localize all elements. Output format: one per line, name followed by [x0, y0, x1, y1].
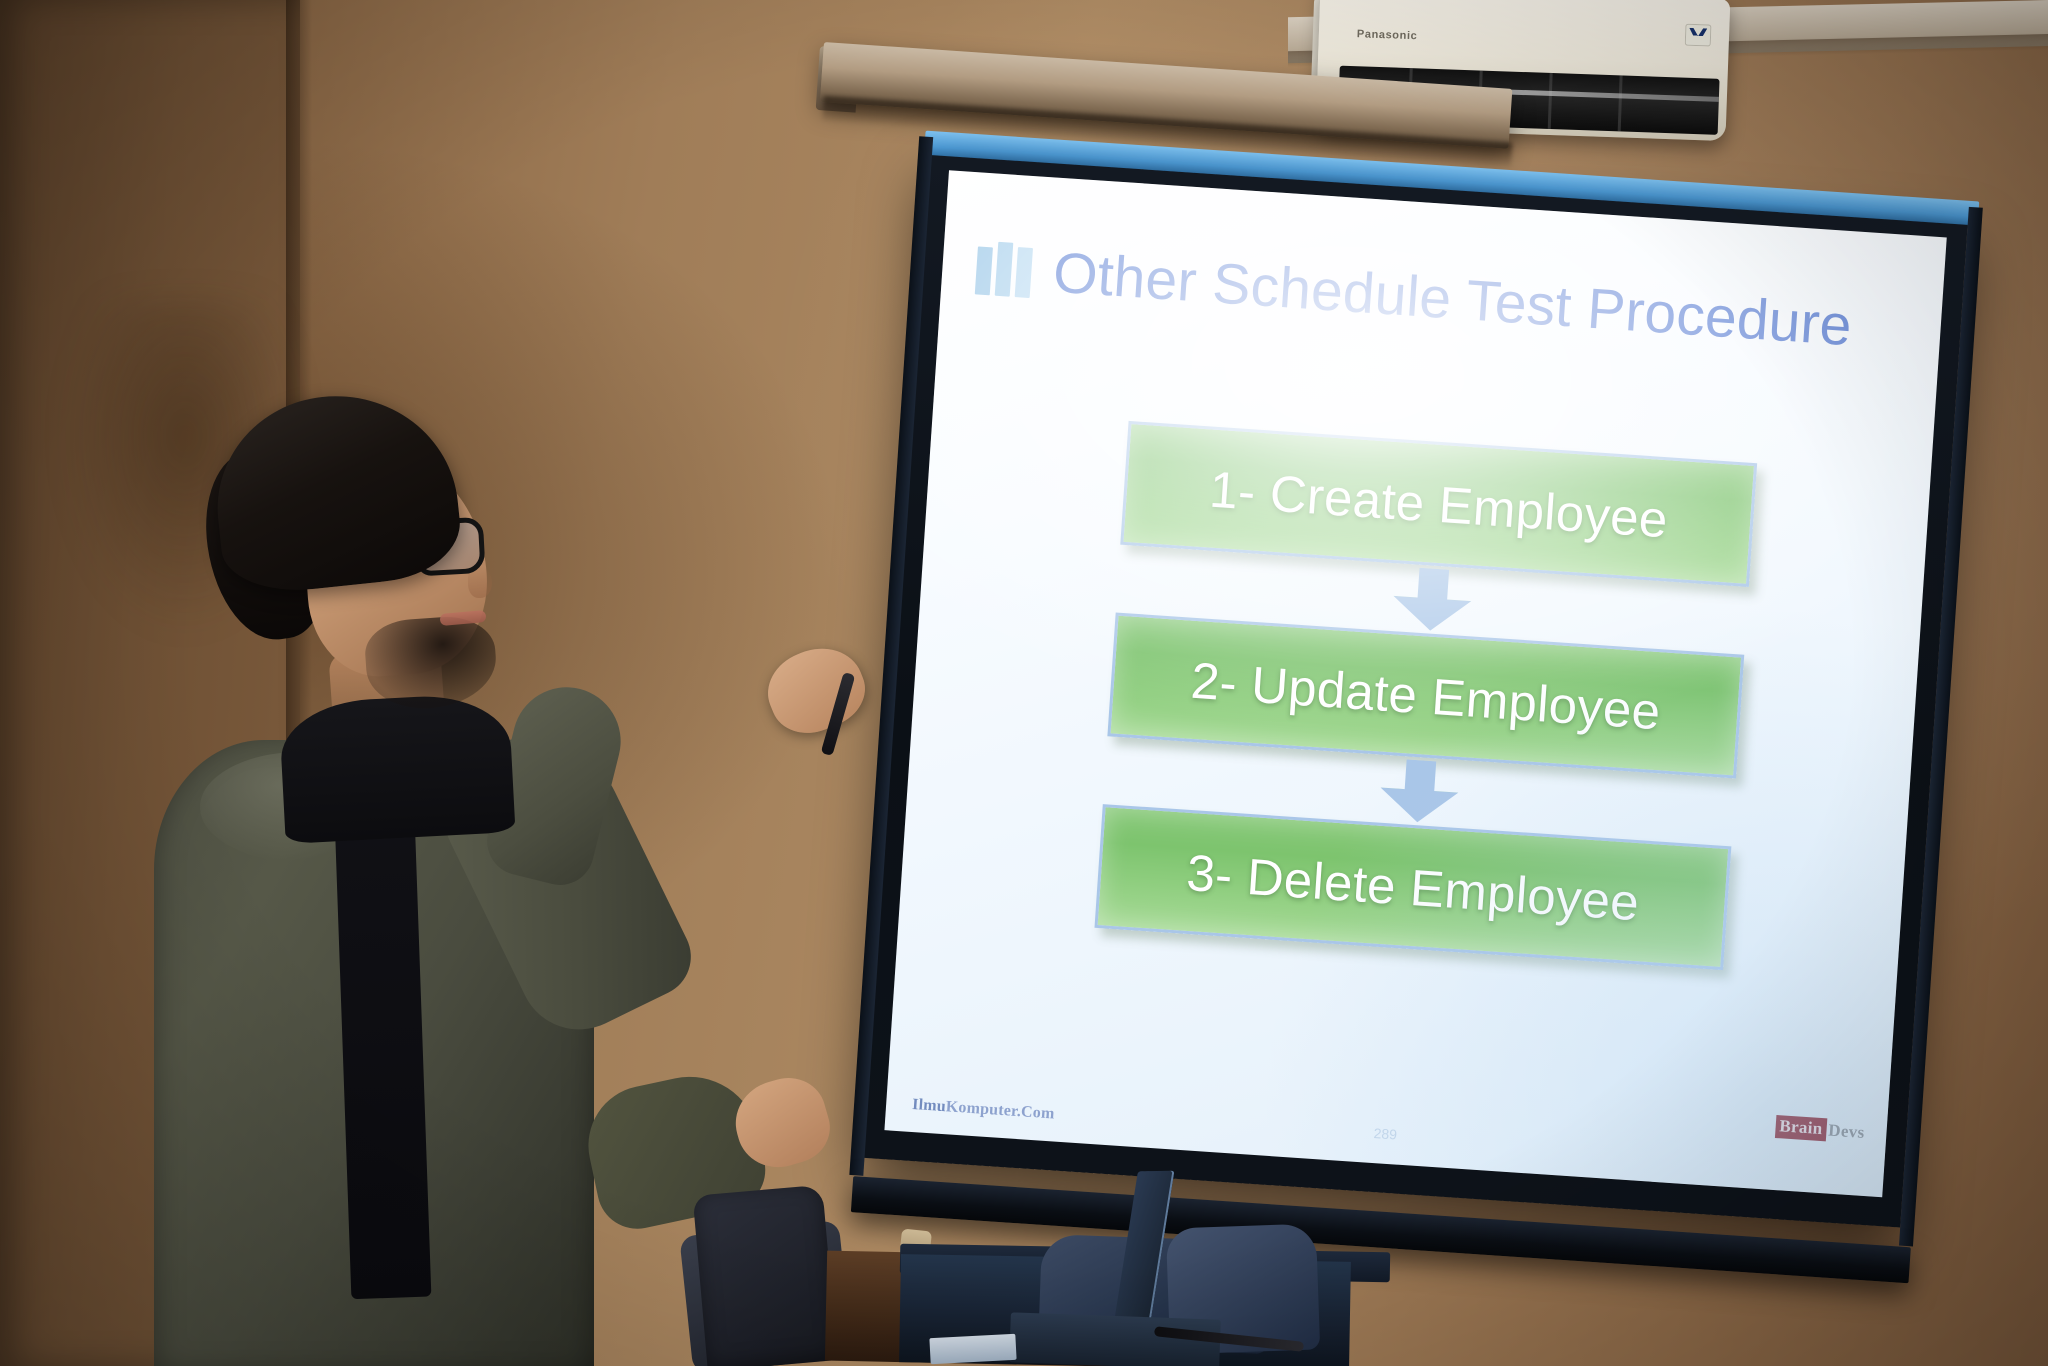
photo-scene: Panasonic Other Sched — [0, 0, 2048, 1366]
screen-frame: Other Schedule Test Procedure 1- Create … — [863, 155, 1968, 1228]
air-conditioner-badge-icon — [1685, 24, 1712, 47]
slide-logo: BrainDevs — [1775, 1115, 1866, 1144]
air-conditioner-brand-label: Panasonic — [1357, 28, 1418, 42]
flow-step-label: 2- Update Employee — [1189, 650, 1662, 740]
slide-watermark-prefix: Ilmu — [912, 1096, 947, 1115]
slide-page-number: 289 — [1373, 1125, 1397, 1143]
presenter — [120, 380, 760, 1366]
chair — [693, 1185, 838, 1366]
down-arrow-icon — [1378, 758, 1460, 825]
slide-logo-primary: Brain — [1775, 1115, 1827, 1141]
paper-sheet — [929, 1334, 1016, 1364]
flow-step-label: 1- Create Employee — [1208, 459, 1670, 549]
slide-title: Other Schedule Test Procedure — [1051, 240, 1854, 360]
slide-watermark-suffix: Komputer.Com — [945, 1098, 1055, 1122]
down-arrow-icon — [1391, 566, 1473, 633]
presenter-lips — [440, 610, 487, 626]
slide-title-row: Other Schedule Test Procedure — [974, 234, 1902, 362]
flow-step-label: 3- Delete Employee — [1185, 842, 1641, 931]
slide-flow-diagram: 1- Create Employee 2- Update Employee — [1094, 421, 1757, 970]
slide-surface: Other Schedule Test Procedure 1- Create … — [884, 170, 1946, 1197]
presenter-hair — [207, 384, 466, 598]
slide-logo-secondary: Devs — [1826, 1120, 1865, 1143]
slide-accent-bars-icon — [975, 240, 1034, 298]
presenter-collar — [278, 692, 515, 844]
projector-screen: Other Schedule Test Procedure 1- Create … — [861, 155, 2026, 1256]
slide-watermark: IlmuKomputer.Com — [912, 1096, 1056, 1124]
